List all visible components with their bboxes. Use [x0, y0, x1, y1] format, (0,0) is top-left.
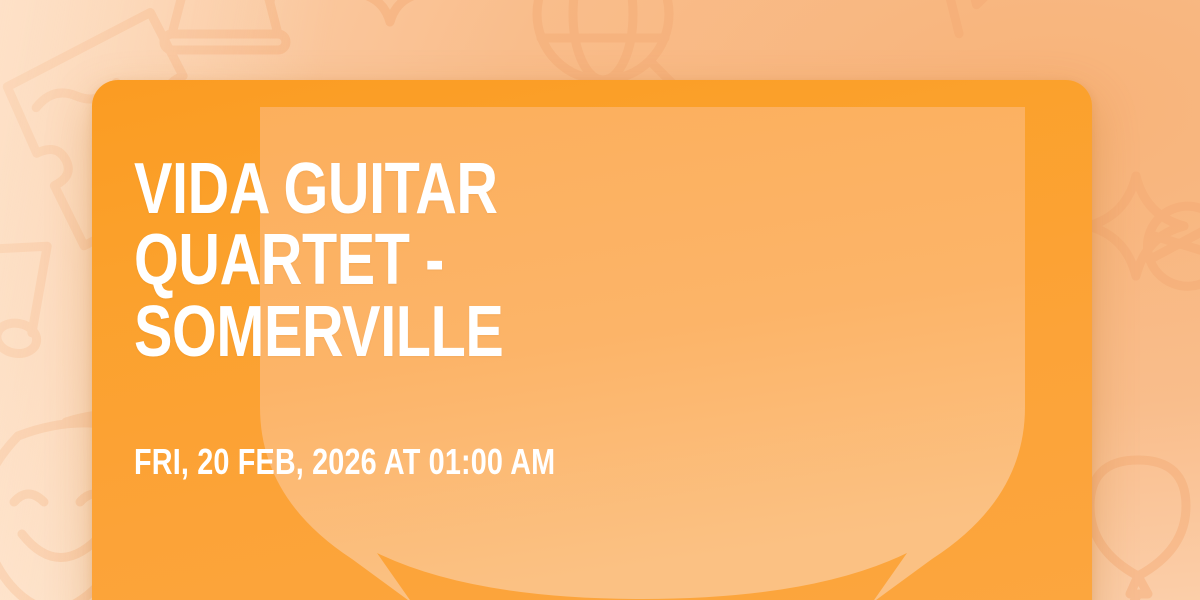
flag-banner-icon — [945, 0, 1099, 34]
event-card: VIDA GUITAR QUARTET - SOMERVILLE FRI, 20… — [92, 80, 1092, 600]
event-banner: VIDA GUITAR QUARTET - SOMERVILLE FRI, 20… — [0, 0, 1200, 600]
event-title: VIDA GUITAR QUARTET - SOMERVILLE — [134, 154, 654, 368]
event-date: FRI, 20 FEB, 2026 AT 01:00 AM — [134, 368, 852, 482]
card-content: VIDA GUITAR QUARTET - SOMERVILLE FRI, 20… — [134, 154, 1032, 481]
sparkle-icon-small — [362, 0, 418, 22]
music-note-icon — [0, 228, 53, 372]
balloon-icon — [1090, 460, 1186, 600]
laptop-icon — [164, 0, 286, 50]
sparkle-icon — [1088, 176, 1184, 276]
